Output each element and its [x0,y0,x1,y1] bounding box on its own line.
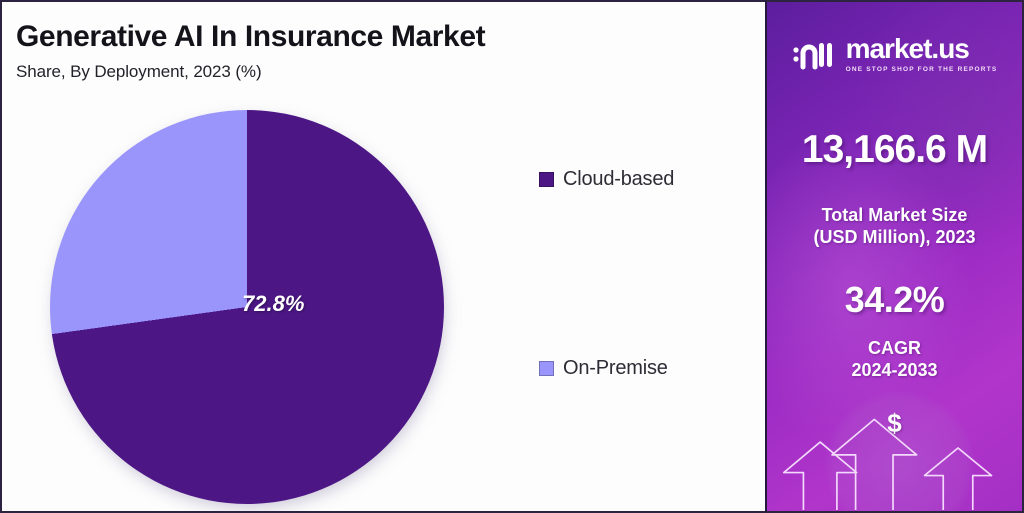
legend-label-cloud-based: Cloud-based [563,168,674,191]
chart-panel: Generative AI In Insurance Market Share,… [0,0,765,513]
market-size-caption-line1: Total Market Size [767,205,1022,227]
brand-logo[interactable]: market.us ONE STOP SHOP FOR THE REPORTS [767,35,1022,73]
logo-wordmark: market.us [846,35,969,63]
infographic-root: Generative AI In Insurance Market Share,… [0,0,1024,513]
cagr-caption: CAGR 2024-2033 [767,338,1022,382]
legend-item-on-premise[interactable]: On-Premise [539,357,668,380]
cagr-caption-line2: 2024-2033 [767,360,1022,382]
legend-swatch-on-premise [539,361,554,376]
market-size-caption-line2: (USD Million), 2023 [767,227,1022,249]
page-title: Generative AI In Insurance Market [16,20,485,54]
pie-slice-value-label: 72.8% [242,291,304,317]
legend-swatch-cloud-based [539,172,554,187]
logo-tagline: ONE STOP SHOP FOR THE REPORTS [846,66,998,73]
legend-item-cloud-based[interactable]: Cloud-based [539,168,674,191]
cagr-caption-line1: CAGR [767,338,1022,360]
page-subtitle: Share, By Deployment, 2023 (%) [16,62,262,82]
cagr-value: 34.2% [767,279,1022,321]
market-size-value: 13,166.6 M [767,128,1022,172]
legend-label-on-premise: On-Premise [563,357,668,380]
market-us-logo-icon [792,37,838,71]
dollar-symbol: $ [767,408,1022,439]
brand-panel: market.us ONE STOP SHOP FOR THE REPORTS … [765,0,1024,513]
market-size-caption: Total Market Size (USD Million), 2023 [767,205,1022,249]
growth-arrows-artwork: $ [767,381,1022,511]
up-arrow-icon [767,381,1022,511]
